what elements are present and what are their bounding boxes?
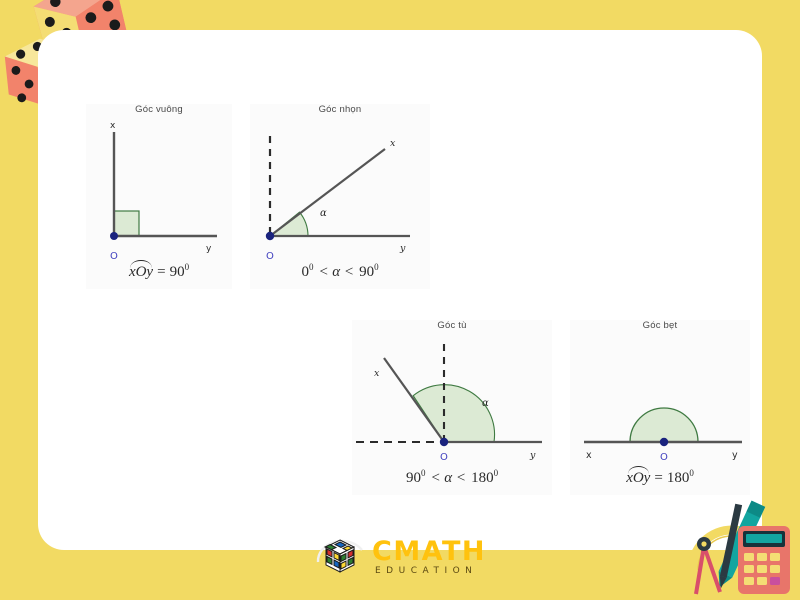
- logo-tagline: EDUCATION: [375, 566, 477, 576]
- svg-text:O: O: [440, 452, 448, 463]
- diagram-acute-angle: Góc nhọn x y O α 00< α <900: [250, 104, 430, 289]
- formula-lhs: xOy: [129, 264, 153, 281]
- formula-degree: 0: [374, 262, 379, 272]
- formula-rel: =: [153, 264, 169, 280]
- diagram-right-angle: Góc vuông x y O xOy=900: [86, 104, 232, 289]
- svg-text:x: x: [390, 138, 396, 149]
- calculator-compass-ruler-icon: [686, 498, 800, 600]
- formula-degree: 0: [689, 468, 694, 478]
- diagram-formula: 900< α <1800: [352, 468, 552, 487]
- formula-degree: 0: [185, 262, 190, 272]
- formula-rhs: 90: [359, 264, 374, 280]
- svg-text:x: x: [586, 450, 592, 461]
- svg-text:y: y: [529, 450, 536, 461]
- svg-text:O: O: [660, 452, 668, 463]
- formula-lhs: 0: [301, 264, 309, 280]
- formula-rhs: 180: [471, 470, 494, 486]
- formula-rhs: 180: [667, 470, 690, 486]
- page-root: Góc vuông x y O xOy=900 Góc nhọn: [0, 0, 800, 600]
- svg-text:y: y: [732, 450, 738, 461]
- formula-rel: < α <: [313, 264, 359, 280]
- formula-rhs: 90: [170, 264, 185, 280]
- diagram-formula: xOy=1800: [570, 468, 750, 487]
- svg-text:x: x: [110, 121, 116, 131]
- svg-text:y: y: [399, 243, 406, 254]
- formula-rel: =: [650, 470, 666, 486]
- brand-logo[interactable]: CMATH EDUCATION: [312, 534, 512, 586]
- diagram-formula: 00< α <900: [250, 262, 430, 281]
- svg-text:O: O: [266, 251, 274, 262]
- rubiks-cube-icon: [312, 534, 372, 586]
- formula-lhs: xOy: [626, 470, 650, 487]
- diagram-formula: xOy=900: [86, 262, 232, 281]
- formula-rel: < α <: [425, 470, 471, 486]
- formula-degree: 0: [494, 468, 499, 478]
- logo-name: CMATH: [372, 536, 486, 567]
- formula-lhs: 90: [406, 470, 421, 486]
- svg-text:x: x: [374, 368, 380, 379]
- svg-text:O: O: [110, 251, 118, 262]
- angle-label-alpha: α: [482, 398, 489, 409]
- diagram-straight-angle: Góc bẹt x y O xOy=1800: [570, 320, 750, 495]
- svg-text:y: y: [206, 244, 212, 254]
- angle-label-alpha: α: [320, 208, 327, 219]
- diagram-obtuse-angle: Góc tù x y O α 900< α <1800: [352, 320, 552, 495]
